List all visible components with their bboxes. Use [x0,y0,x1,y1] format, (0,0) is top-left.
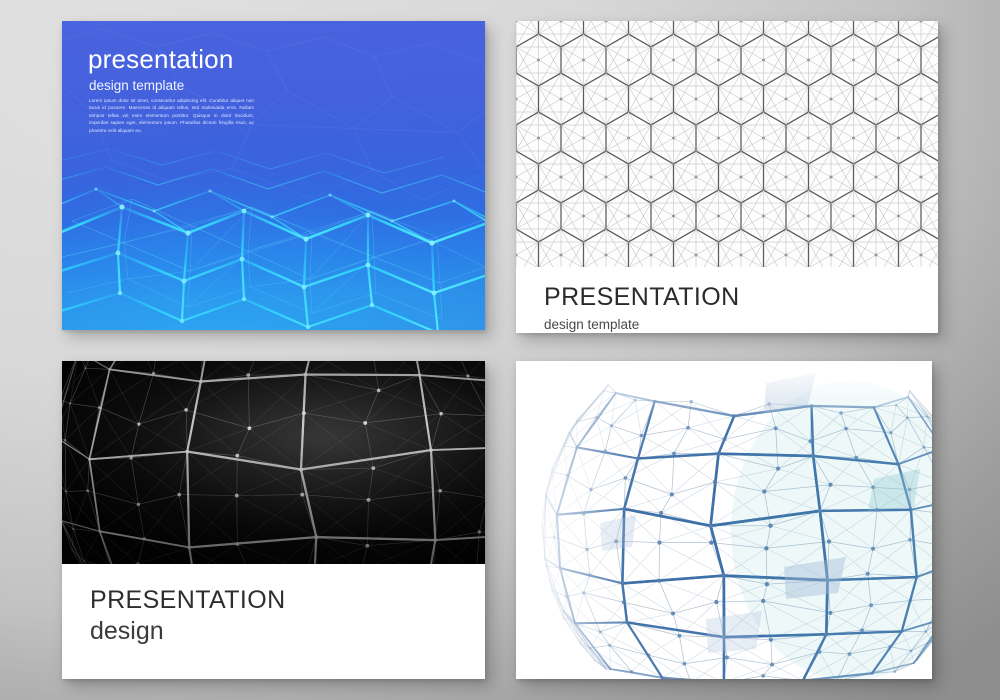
slide1-title: presentation [88,44,234,75]
slide3-title: PRESENTATION [90,586,286,615]
slide-hex-pattern[interactable]: PRESENTATION design template [516,21,938,333]
dark-mesh-area [62,361,485,564]
slide-dark-mesh[interactable]: PRESENTATION design [62,361,485,679]
slide2-caption: PRESENTATION design template [516,267,938,333]
cyan-glow [62,176,485,331]
slide-blue-gradient[interactable]: presentation design template Lorem ipsum… [62,21,485,330]
slide2-title: PRESENTATION [544,283,740,312]
slide-mockup-board: presentation design template Lorem ipsum… [0,0,1000,700]
hexagon-pattern-area [516,21,938,267]
slide3-subtitle: design [90,617,164,646]
slide1-subtitle: design template [89,78,184,93]
slide-blue-sphere[interactable] [516,361,932,679]
slide3-caption: PRESENTATION design [62,564,485,679]
dark-vignette [62,361,485,564]
hexagon-grid-icon [516,21,938,267]
slide1-body-text: Lorem ipsum dolor sit amet, consectetur … [89,97,254,134]
blue-sphere-mesh-icon [516,361,932,679]
slide2-subtitle: design template [544,317,639,332]
